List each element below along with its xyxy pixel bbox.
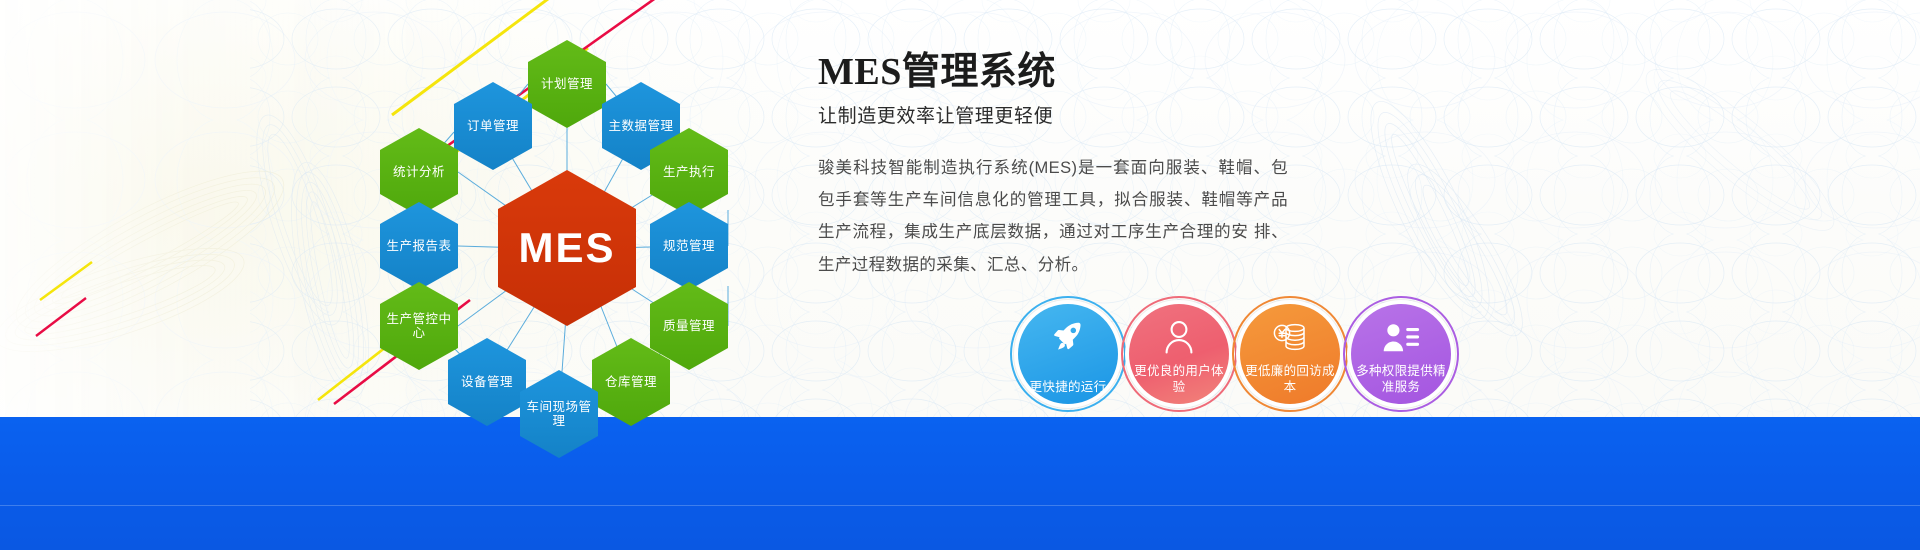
hex-node-label: 质量管理 bbox=[659, 319, 719, 334]
badge-label: 更快捷的运行 bbox=[1022, 379, 1114, 395]
badge-label: 多种权限提供精准服务 bbox=[1355, 363, 1447, 395]
hex-node-label: 规范管理 bbox=[659, 239, 719, 254]
page-subtitle: 让制造更效率让管理更轻便 bbox=[818, 101, 1288, 128]
hex-node-label: 设备管理 bbox=[457, 375, 517, 390]
hex-node-label: 统计分析 bbox=[389, 165, 449, 180]
banner-stage: MES 计划管理 订单管理 主数据管理 统计分析 生产执行 生产报告表 规范管理… bbox=[0, 0, 1920, 550]
hex-node-label: 计划管理 bbox=[537, 77, 597, 92]
feature-badge-row: 更快捷的运行 更优良的用户体验 bbox=[1018, 304, 1451, 404]
hex-node-label: 生产执行 bbox=[659, 165, 719, 180]
hex-node-label: 生产管控中心 bbox=[380, 312, 458, 341]
coins-icon bbox=[1240, 318, 1340, 356]
rocket-icon bbox=[1018, 318, 1118, 356]
user-icon bbox=[1129, 318, 1229, 356]
permission-icon bbox=[1351, 318, 1451, 356]
hex-node-label: 主数据管理 bbox=[604, 119, 677, 134]
feature-badge-permissions[interactable]: 多种权限提供精准服务 bbox=[1351, 304, 1451, 404]
feature-badge-ux[interactable]: 更优良的用户体验 bbox=[1129, 304, 1229, 404]
feature-badge-faster[interactable]: 更快捷的运行 bbox=[1018, 304, 1118, 404]
hex-node-label: 仓库管理 bbox=[601, 375, 661, 390]
hex-node-label: 订单管理 bbox=[463, 119, 523, 134]
banner-copy: MES管理系统 让制造更效率让管理更轻便 骏美科技智能制造执行系统(MES)是一… bbox=[818, 52, 1288, 281]
hex-node-label: 车间现场管理 bbox=[520, 400, 598, 429]
page-title: MES管理系统 bbox=[818, 52, 1288, 93]
hex-node-label: 生产报告表 bbox=[382, 239, 455, 254]
bottom-blue-band bbox=[0, 417, 1920, 550]
hex-core-label: MES bbox=[514, 224, 619, 273]
badge-label: 更低廉的回访成本 bbox=[1244, 363, 1336, 395]
page-paragraph: 骏美科技智能制造执行系统(MES)是一套面向服装、鞋帽、包包手套等生产车间信息化… bbox=[818, 152, 1288, 281]
badge-label: 更优良的用户体验 bbox=[1133, 363, 1225, 395]
mes-hex-diagram: MES 计划管理 订单管理 主数据管理 统计分析 生产执行 生产报告表 规范管理… bbox=[330, 20, 800, 440]
band-divider-line bbox=[0, 505, 1920, 506]
feature-badge-cost[interactable]: 更低廉的回访成本 bbox=[1240, 304, 1340, 404]
